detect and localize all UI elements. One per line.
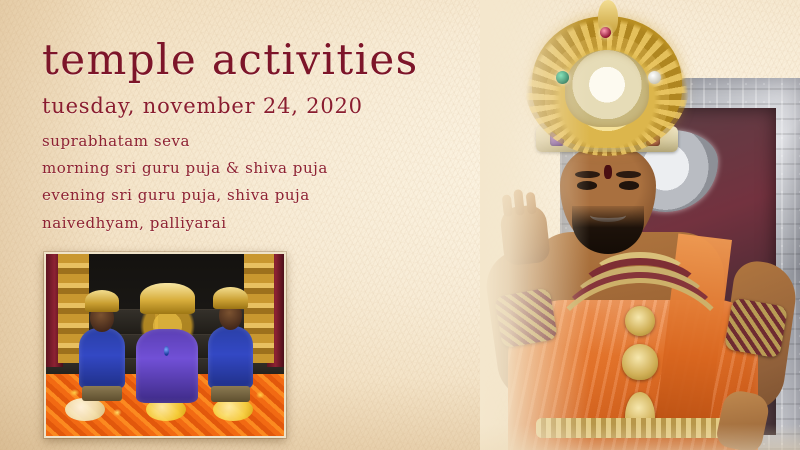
eye-right <box>619 181 639 189</box>
deity-idol-right <box>208 287 253 389</box>
activities-list: suprabhatam seva morning sri guru puja &… <box>42 134 482 231</box>
pendant-middle <box>622 344 658 380</box>
list-item: morning sri guru puja & shiva puja <box>42 161 482 176</box>
eyebrow-left <box>575 171 600 178</box>
temple-activities-poster: temple activities tuesday, november 24, … <box>0 0 800 450</box>
idol-robe <box>79 328 124 389</box>
left-armlet <box>494 288 558 349</box>
idol-crown <box>140 283 194 314</box>
guru-figure <box>480 0 800 450</box>
poster-date: tuesday, november 24, 2020 <box>42 94 482 118</box>
idol-crown <box>85 290 119 312</box>
list-item: evening sri guru puja, shiva puja <box>42 188 482 203</box>
list-item: suprabhatam seva <box>42 134 482 149</box>
poster-text-block: temple activities tuesday, november 24, … <box>42 38 482 243</box>
shrine-scene <box>46 254 284 436</box>
golden-crown <box>532 16 682 148</box>
deity-idol-center <box>136 283 198 403</box>
deity-idol-left <box>79 290 124 388</box>
finger-icon <box>513 189 525 216</box>
tilak-icon <box>604 165 612 180</box>
page-title: temple activities <box>42 38 482 82</box>
shrine-photo <box>44 252 286 438</box>
finger-icon <box>502 194 513 217</box>
crown-front-plate <box>565 50 649 127</box>
idol-pedestal <box>211 386 251 402</box>
raised-blessing-hand <box>499 204 551 266</box>
pendant-upper <box>625 306 655 336</box>
idol-robe <box>208 326 253 389</box>
ruby-gem-icon <box>600 27 611 38</box>
eyebrow-right <box>616 171 641 178</box>
idol-robe <box>136 329 198 403</box>
idol-crown <box>213 287 247 309</box>
right-armlet <box>724 298 788 359</box>
eye-left <box>577 181 597 189</box>
waist-belt <box>536 418 736 438</box>
finger-icon <box>526 192 537 215</box>
list-item: naivedhyam, palliyarai <box>42 216 482 231</box>
idol-pedestal <box>82 386 122 402</box>
face <box>560 144 656 248</box>
